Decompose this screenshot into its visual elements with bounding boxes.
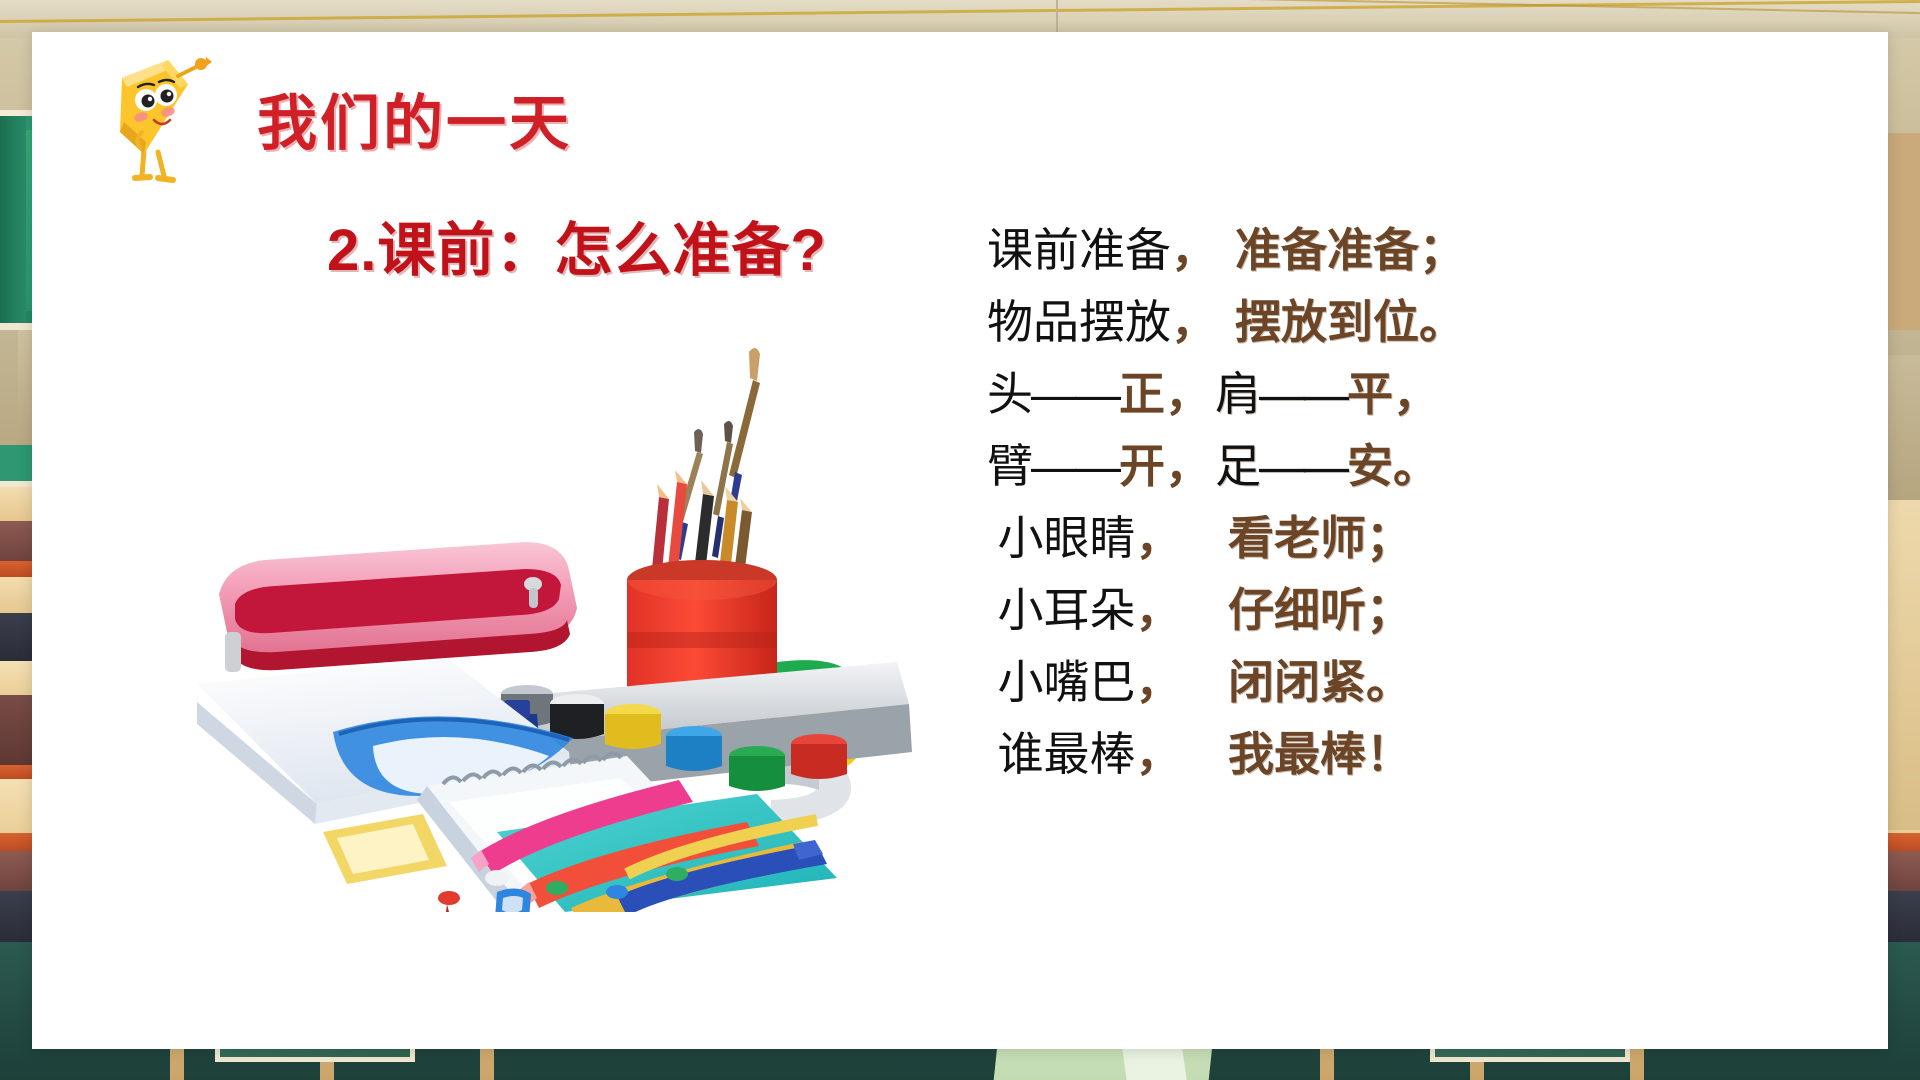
page-title: 我们的一天 <box>257 94 572 154</box>
verse-column: 课前准备，准备准备；物品摆放，摆放到位。头——正，肩——平，臂——开，足——安。… <box>987 214 1457 790</box>
verse-line-left: 物品摆放， <box>987 286 1217 358</box>
verse-line-left: 谁最棒， <box>987 718 1192 790</box>
ceiling-light-strip <box>0 0 1920 23</box>
verse-line: 课前准备，准备准备； <box>987 214 1457 286</box>
verse-line-left: 臂——开， <box>987 430 1205 502</box>
verse-line-left: 小耳朵， <box>987 574 1192 646</box>
verse-line-left: 头——正， <box>987 358 1205 430</box>
verse-line-right: 摆放到位。 <box>1235 286 1465 358</box>
slide-canvas: 我们的一天 2.课前：怎么准备? <box>32 32 1888 1049</box>
verse-line-right: 仔细听； <box>1228 574 1412 646</box>
verse-line: 小眼睛，看老师； <box>987 502 1457 574</box>
verse-line-left: 小眼睛， <box>987 502 1192 574</box>
verse-line-right: 准备准备； <box>1235 214 1465 286</box>
verse-line: 小耳朵，仔细听； <box>987 574 1457 646</box>
verse-line-right: 我最棒！ <box>1228 718 1412 790</box>
book-mascot-icon <box>102 54 212 189</box>
chalkboard-frame <box>0 116 26 323</box>
verse-line: 谁最棒，我最棒！ <box>987 718 1457 790</box>
slide-header: 我们的一天 <box>32 32 1888 192</box>
verse-line-left: 课前准备， <box>987 214 1217 286</box>
verse-line: 小嘴巴，闭闭紧。 <box>987 646 1457 718</box>
verse-line: 头——正，肩——平， <box>987 358 1457 430</box>
verse-line-left: 小嘴巴， <box>987 646 1192 718</box>
verse-line-right: 足——安。 <box>1215 430 1439 502</box>
verse-line-right: 肩——平， <box>1215 358 1439 430</box>
verse-line-right: 看老师； <box>1228 502 1412 574</box>
verse-line-right: 闭闭紧。 <box>1228 646 1412 718</box>
verse-line: 臂——开，足——安。 <box>987 430 1457 502</box>
school-supplies-photo <box>197 332 957 912</box>
section-heading: 2.课前：怎么准备? <box>327 222 827 280</box>
verse-line: 物品摆放，摆放到位。 <box>987 286 1457 358</box>
